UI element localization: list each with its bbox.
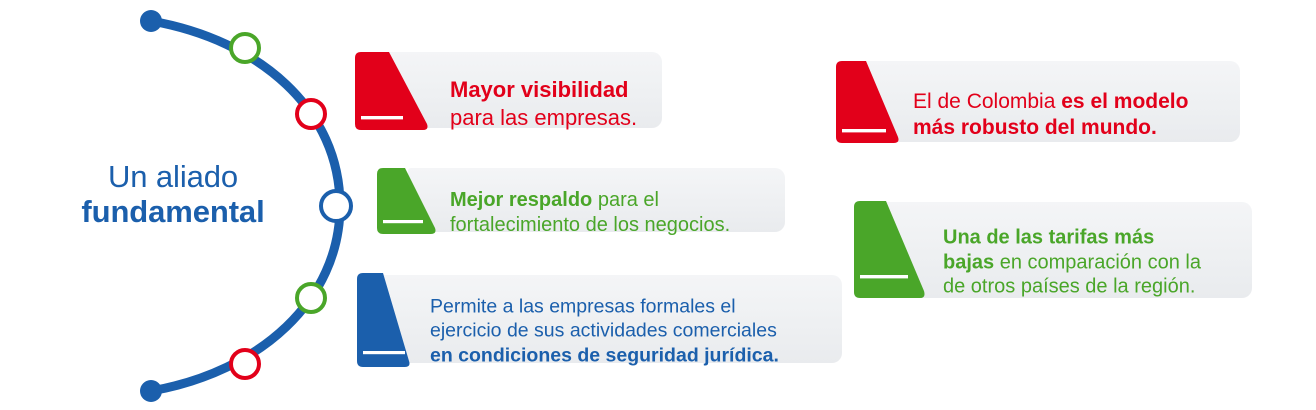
node-red-upper [297, 100, 325, 128]
card-text-bold: Mejor respaldo [450, 189, 592, 211]
card-tarifas-bajas: Una de las tarifas más bajas en comparac… [884, 202, 1252, 298]
card-text-bold: Mayor visibilidad [450, 77, 629, 102]
node-start-dot [140, 10, 162, 32]
red-accent-tab-icon [355, 52, 443, 132]
card-seguridad-juridica: Permite a las empresas formales el ejerc… [378, 275, 842, 363]
green-accent-tab-icon [377, 168, 443, 236]
card-text-lead: Permite a las empresas formales el ejerc… [430, 296, 777, 342]
card-mayor-visibilidad: Mayor visibilidad para las empresas. [386, 52, 662, 128]
card-text: Mayor visibilidad para las empresas. [450, 49, 637, 131]
title-line-1: Un aliado [48, 160, 298, 195]
node-green-low [297, 284, 325, 312]
green-accent-tab-icon [854, 201, 936, 301]
card-modelo-robusto: El de Colombia es el modelo más robusto … [862, 61, 1240, 142]
card-mejor-respaldo: Mejor respaldo para el fortalecimiento d… [408, 168, 785, 232]
card-text-bold: en condiciones de seguridad jurídica. [430, 344, 779, 366]
card-text: El de Colombia es el modelo más robusto … [913, 62, 1188, 140]
title-line-2: fundamental [48, 195, 298, 230]
node-red-lower [231, 350, 259, 378]
page-title: Un aliado fundamental [48, 160, 298, 229]
card-text: Mejor respaldo para el fortalecimiento d… [450, 163, 730, 237]
node-blue-mid [321, 191, 351, 221]
blue-accent-tab-icon [357, 273, 417, 369]
card-text-rest: para las empresas. [450, 105, 637, 130]
node-green-top [231, 34, 259, 62]
infographic-canvas: Un aliado fundamental Mayor visibilidad … [0, 0, 1316, 410]
card-text: Una de las tarifas más bajas en comparac… [943, 200, 1201, 299]
red-accent-tab-icon [836, 61, 908, 145]
card-text: Permite a las empresas formales el ejerc… [430, 271, 779, 368]
node-end-dot [140, 380, 162, 402]
card-text-lead: El de Colombia [913, 89, 1061, 112]
